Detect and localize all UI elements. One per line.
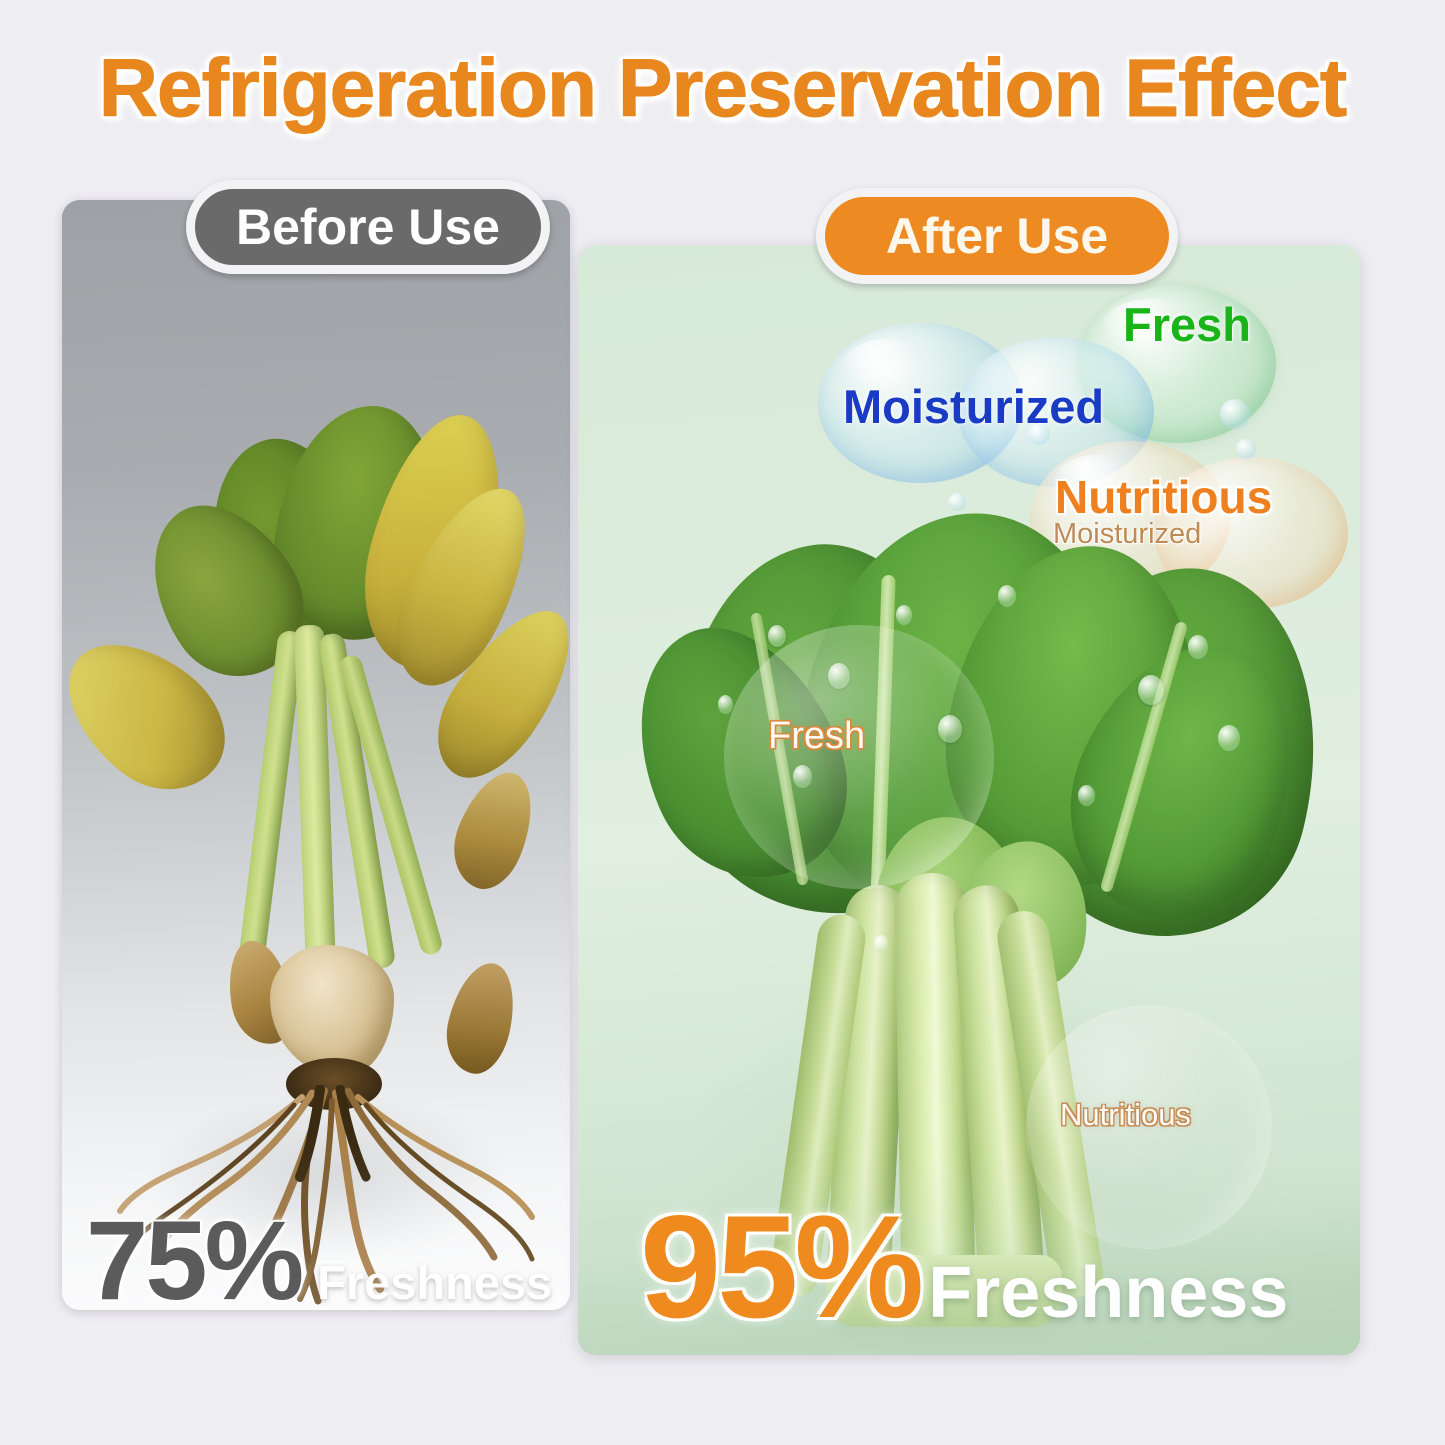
after-use-badge: After Use: [816, 188, 1178, 284]
after-freshness-value: 95%: [640, 1183, 920, 1351]
bubble-label-fresh-overlay: Fresh: [768, 715, 865, 758]
before-use-badge: Before Use: [186, 180, 550, 274]
infographic-canvas: Refrigeration Preservation Effect: [0, 0, 1445, 1445]
before-freshness-stat: 75% Freshness: [86, 1196, 552, 1325]
small-bubble: [1220, 399, 1250, 429]
bubble-label-nutritious: Nutritious: [1055, 470, 1272, 524]
water-droplet: [1218, 725, 1240, 751]
page-title: Refrigeration Preservation Effect: [0, 42, 1445, 136]
before-freshness-value: 75%: [86, 1196, 301, 1325]
before-freshness-unit: Freshness: [317, 1255, 552, 1310]
before-use-badge-label: Before Use: [236, 198, 500, 256]
bubble-label-moisturized: Moisturized: [843, 379, 1104, 434]
water-droplet: [768, 625, 786, 647]
water-droplet: [998, 585, 1016, 607]
bubble-label-fresh: Fresh: [1123, 297, 1251, 352]
water-droplet: [1188, 635, 1208, 659]
bubble-label-nutritious-overlay: Nutritious: [1060, 1097, 1191, 1133]
small-bubble: [948, 493, 966, 511]
water-droplet: [718, 695, 733, 714]
after-freshness-stat: 95% Freshness: [640, 1183, 1288, 1351]
after-use-badge-label: After Use: [886, 207, 1108, 265]
water-droplet: [1138, 675, 1164, 705]
water-droplet: [896, 605, 912, 625]
water-droplet: [874, 935, 888, 953]
small-bubble: [1236, 439, 1256, 459]
bubble-label-moisturized-small: Moisturized: [1053, 518, 1201, 551]
water-droplet: [1078, 785, 1095, 806]
after-freshness-unit: Freshness: [928, 1252, 1288, 1334]
before-use-panel: [62, 200, 570, 1310]
